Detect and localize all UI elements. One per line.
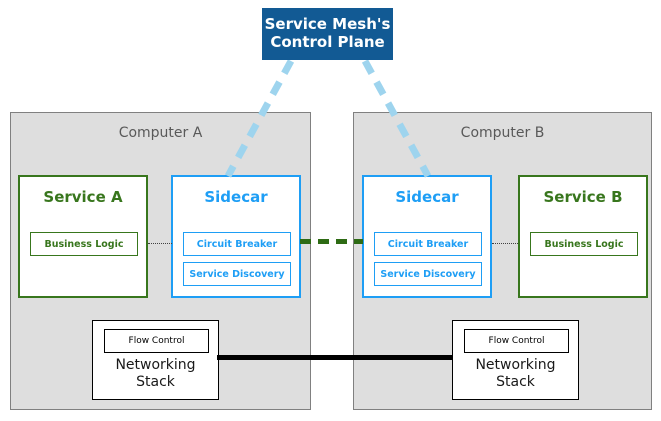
- control-plane-box[interactable]: Service Mesh's Control Plane: [262, 8, 393, 60]
- sidecar-b-title: Sidecar: [364, 188, 490, 206]
- sidecar-a-title: Sidecar: [173, 188, 299, 206]
- service-b-title: Service B: [520, 188, 646, 206]
- sidecar-b-service-discovery[interactable]: Service Discovery: [374, 262, 482, 286]
- networking-stack-b-label-line2: Stack: [453, 374, 578, 391]
- netstack-to-netstack-connector: [217, 355, 453, 360]
- sidecar-a-box[interactable]: Sidecar Circuit Breaker Service Discover…: [171, 175, 301, 298]
- networking-stack-a-label-line2: Stack: [93, 374, 218, 391]
- service-a-business-logic[interactable]: Business Logic: [30, 232, 138, 256]
- networking-stack-a-label: Networking Stack: [93, 357, 218, 391]
- control-plane-title-line2: Control Plane: [265, 34, 391, 52]
- networking-stack-a-label-line1: Networking: [93, 357, 218, 374]
- computer-b-title: Computer B: [354, 125, 651, 141]
- computer-a-title: Computer A: [11, 125, 310, 141]
- service-b-box[interactable]: Service B Business Logic: [518, 175, 648, 298]
- sidecar-a-circuit-breaker[interactable]: Circuit Breaker: [183, 232, 291, 256]
- networking-stack-a-flow-control[interactable]: Flow Control: [104, 329, 209, 353]
- sidecar-b-circuit-breaker[interactable]: Circuit Breaker: [374, 232, 482, 256]
- networking-stack-b-label: Networking Stack: [453, 357, 578, 391]
- service-a-title: Service A: [20, 188, 146, 206]
- networking-stack-a-box[interactable]: Flow Control Networking Stack: [92, 320, 219, 400]
- networking-stack-b-box[interactable]: Flow Control Networking Stack: [452, 320, 579, 400]
- service-b-to-sidecar-b-connector: [492, 243, 518, 244]
- sidecar-to-sidecar-mesh-connector: [300, 239, 363, 244]
- control-plane-title-line1: Service Mesh's: [265, 16, 391, 34]
- sidecar-b-box[interactable]: Sidecar Circuit Breaker Service Discover…: [362, 175, 492, 298]
- service-a-box[interactable]: Service A Business Logic: [18, 175, 148, 298]
- service-a-to-sidecar-a-connector: [148, 243, 172, 244]
- networking-stack-b-label-line1: Networking: [453, 357, 578, 374]
- sidecar-a-service-discovery[interactable]: Service Discovery: [183, 262, 291, 286]
- diagram-canvas: Service Mesh's Control Plane Computer A …: [0, 0, 661, 421]
- networking-stack-b-flow-control[interactable]: Flow Control: [464, 329, 569, 353]
- service-b-business-logic[interactable]: Business Logic: [530, 232, 638, 256]
